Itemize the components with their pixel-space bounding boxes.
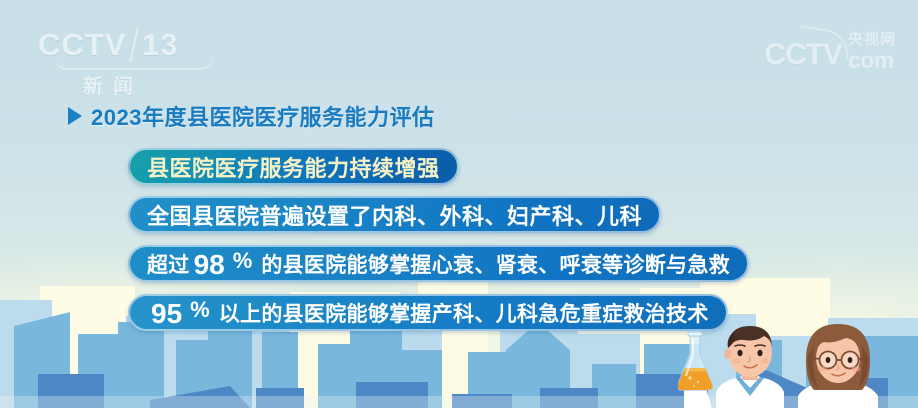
bullet-pill-4-percent: % bbox=[186, 299, 214, 321]
male-doctor-illustration bbox=[716, 326, 784, 408]
bullet-pill-3-suffix: 的县医院能够掌握心衰、肾衰、呼衰等诊断与急救 bbox=[256, 249, 730, 279]
watermark-brand-cn: 央视网 bbox=[848, 32, 896, 47]
logo-channel-name: 新闻 bbox=[38, 70, 188, 99]
bullet-pill-3-percent: % bbox=[229, 250, 257, 272]
logo-arc-decoration bbox=[54, 56, 214, 70]
bullet-pill-4: 95 % 以上的县医院能够掌握产科、儿科急危重症救治技术 bbox=[128, 294, 728, 331]
bullet-pill-1: 县医院医疗服务能力持续增强 bbox=[128, 148, 459, 185]
watermark-domain: com bbox=[848, 49, 894, 72]
bullet-pill-1-text: 县医院医疗服务能力持续增强 bbox=[147, 151, 440, 183]
flask-icon bbox=[678, 332, 713, 408]
female-doctor-illustration bbox=[798, 324, 878, 408]
triangle-right-icon bbox=[68, 107, 82, 125]
cctv-com-watermark: CCTV 央视网 com bbox=[764, 32, 896, 72]
bullet-pill-4-figure: 95 bbox=[147, 300, 186, 328]
bullet-pill-2: 全国县医院普遍设置了内科、外科、妇产科、儿科 bbox=[128, 196, 661, 233]
bullet-pill-3-figure: 98 bbox=[190, 251, 229, 279]
headline: 2023年度县医院医疗服务能力评估 bbox=[68, 100, 434, 132]
headline-text: 2023年度县医院医疗服务能力评估 bbox=[91, 100, 434, 132]
bullet-pill-3-prefix: 超过 bbox=[147, 249, 190, 279]
broadcast-frame: CCTV 13 新闻 CCTV 央视网 com 2023年度县医院医疗服务能力评… bbox=[0, 0, 918, 408]
cctv13-logo: CCTV 13 新闻 bbox=[38, 28, 228, 84]
bullet-pill-3: 超过 98 % 的县医院能够掌握心衰、肾衰、呼衰等诊断与急救 bbox=[128, 245, 749, 282]
bullet-pill-2-text: 全国县医院普遍设置了内科、外科、妇产科、儿科 bbox=[147, 199, 642, 231]
bullet-pill-4-suffix: 以上的县医院能够掌握产科、儿科急危重症救治技术 bbox=[214, 298, 709, 328]
doctors-illustration bbox=[678, 316, 918, 408]
